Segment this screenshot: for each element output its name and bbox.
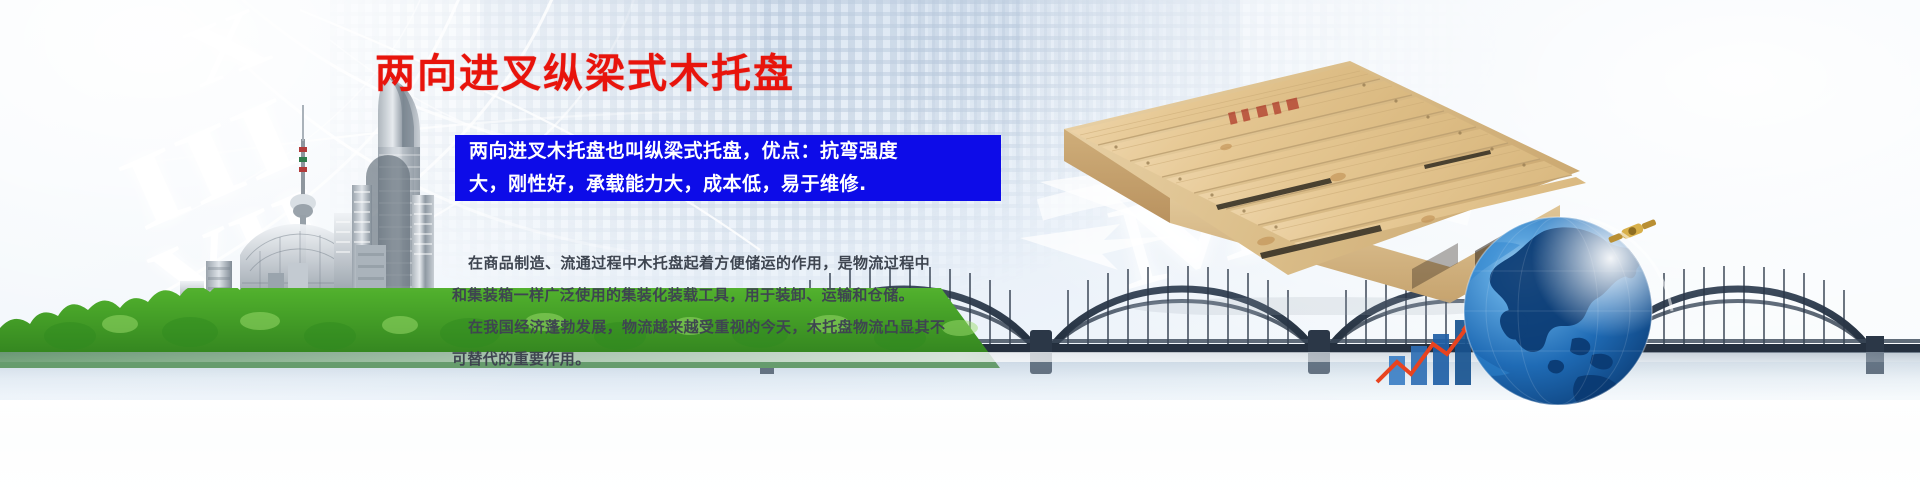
product-banner: X III VII M — [0, 0, 1920, 500]
body-line-2: 和集装箱一样广泛使用的集装化装载工具，用于装卸、运输和仓储。 — [452, 279, 1052, 311]
body-paragraph: 在商品制造、流通过程中木托盘起着方便储运的作用，是物流过程中 和集装箱一样广泛使… — [452, 247, 1052, 375]
page-title: 两向进叉纵梁式木托盘 — [375, 52, 795, 96]
banner-bottom-fade — [0, 400, 1920, 500]
highlight-callout-box: 两向进叉木托盘也叫纵梁式托盘，优点：抗弯强度 大，刚性好，承载能力大，成本低，易… — [455, 135, 1001, 201]
body-line-1: 在商品制造、流通过程中木托盘起着方便储运的作用，是物流过程中 — [452, 247, 1052, 279]
highlight-line-2: 大，刚性好，承载能力大，成本低，易于维修. — [455, 168, 1001, 201]
body-line-4: 可替代的重要作用。 — [452, 343, 1052, 375]
highlight-line-1: 两向进叉木托盘也叫纵梁式托盘，优点：抗弯强度 — [455, 135, 1001, 168]
blue-earth-globe-image — [1440, 215, 1680, 415]
body-line-3: 在我国经济蓬勃发展，物流越来越受重视的今天，木托盘物流凸显其不 — [452, 311, 1052, 343]
